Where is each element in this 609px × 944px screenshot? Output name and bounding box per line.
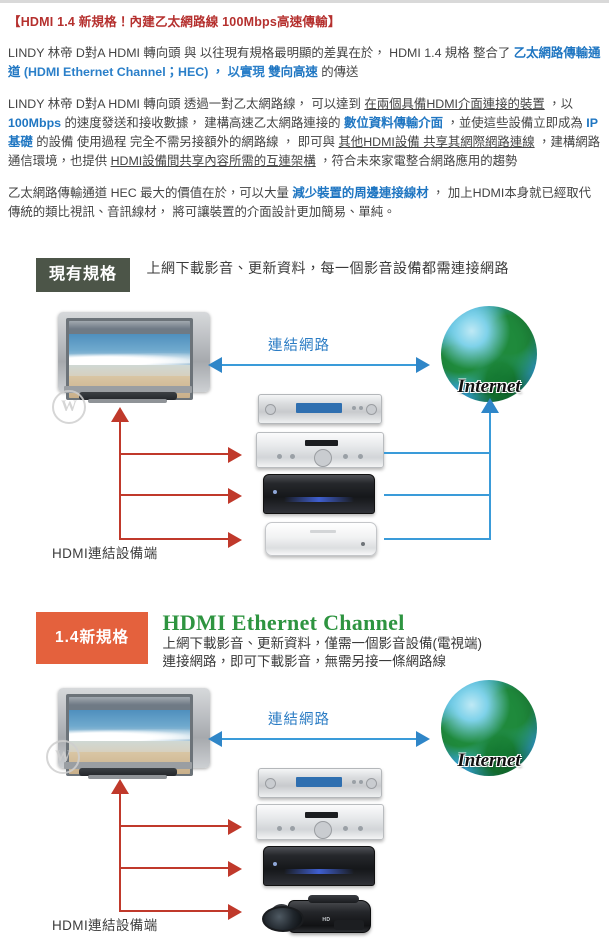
avr-btn-3-2 (343, 826, 348, 831)
hec-title: HDMI Ethernet Channel (162, 612, 482, 633)
p2-bold-100mbps: 100Mbps (8, 116, 61, 130)
dvd-tray (296, 403, 342, 413)
red-arrow-2-icon-2 (228, 861, 242, 877)
p2-link-share-content[interactable]: HDMI設備間共享內容所需的互連架構 (111, 154, 316, 168)
red-arrow-1-icon-2 (228, 819, 242, 835)
badge-new-spec: 1.4新規格 (36, 612, 148, 664)
watermark-icon-2: W (46, 740, 80, 774)
network-link-label: 連結網路 (268, 334, 330, 355)
globe-label-2: Internet (432, 750, 545, 772)
section-new-text: HDMI Ethernet Channel 上網下載影音、更新資料，僅需一個影音… (162, 612, 482, 671)
net-arrow-left-icon-2 (208, 731, 222, 747)
device-set-top-box-2 (263, 846, 375, 886)
avr-main-knob (314, 449, 332, 467)
dvd-knob-right (366, 404, 377, 415)
badge-current-spec: 現有規格 (36, 258, 130, 292)
avr-btn-2 (290, 454, 295, 459)
camcorder-top-handle (308, 895, 359, 903)
blue-arrow-to-internet-icon (481, 398, 499, 413)
page-root: 【HDMI 1.4 新規格！內建乙太網路線 100Mbps高速傳輸】 LINDY… (0, 0, 609, 944)
watermark-icon: W (52, 390, 86, 424)
dvd-btn-2-2 (359, 780, 363, 784)
device-camcorder: HD (262, 892, 378, 940)
avr-btn-1-2 (277, 826, 282, 831)
dvd-tray-2 (296, 777, 342, 787)
avr-btn-3 (343, 454, 348, 459)
hec-sub-line-1: 上網下載影音、更新資料，僅需一個影音設備(電視端) (162, 635, 482, 653)
net-arrow-right-icon (416, 357, 430, 373)
p2-bold-digital-interface: 數位資料傳輸介面 (344, 116, 443, 130)
red-branch-1 (119, 453, 229, 455)
device-av-receiver (256, 432, 384, 468)
internet-globe-2: Internet (441, 680, 537, 776)
avr-btn-4-2 (358, 826, 363, 831)
red-arrow-to-tv-icon-2 (111, 779, 129, 794)
screen-glare (69, 321, 191, 329)
article-body: 【HDMI 1.4 新規格！內建乙太網路線 100Mbps高速傳輸】 LINDY… (8, 14, 603, 235)
p2-text-4: ，並使這些設備立即成為 (443, 116, 586, 130)
p2-text-7: ，符合未來家電整合網路應用的趨勢 (316, 154, 518, 168)
red-arrow-2-icon (228, 488, 242, 504)
p2-text-3: 的速度發送和接收數據， 建構高速乙太網路連接的 (61, 116, 344, 130)
avr-btn-4 (358, 454, 363, 459)
p2-link-share-connection[interactable]: 其他HDMI設備 共享其網際網路連線 (338, 135, 534, 149)
section-new-header: 1.4新規格 HDMI Ethernet Channel 上網下載影音、更新資料… (36, 612, 482, 671)
dvd-btn-2 (359, 406, 363, 410)
avr-display (305, 440, 338, 445)
screen-glare-2 (69, 697, 191, 705)
avr-main-knob-2 (314, 821, 332, 839)
paragraph-3: 乙太網路傳輸通道 HEC 最大的價值在於，可以大量 減少裝置的周邊連接線材 ， … (8, 184, 603, 222)
device-media-box (265, 522, 377, 556)
paragraph-1: LINDY 林帝 D對A HDMI 轉向頭 與 以往現有規格最明顯的差異在於， … (8, 44, 603, 82)
net-line-horizontal (222, 364, 426, 366)
device-set-top-box (263, 474, 375, 514)
p2-text-5: 的設備 使用過程 完全不需另接額外的網路線 ， 即可與 (33, 135, 339, 149)
device-dvd-player-2 (258, 768, 382, 798)
red-branch-3 (119, 538, 229, 540)
net-line-horizontal-2 (222, 738, 426, 740)
hdmi-endpoint-label: HDMI連結設備端 (52, 542, 158, 562)
net-arrow-right-icon-2 (416, 731, 430, 747)
mediabox-line (310, 530, 336, 533)
dvd-btn-1 (352, 406, 356, 410)
paragraph-2: LINDY 林帝 D對A HDMI 轉向頭 透過一對乙太網路線， 可以達到 在兩… (8, 95, 603, 171)
internet-globe: Internet (441, 306, 537, 402)
p3-bold-reduce-cables: 減少裝置的周邊連接線材 (292, 186, 428, 200)
section-old-caption: 上網下載影音、更新資料，每一個影音設備都需連接網路 (146, 260, 509, 276)
stb-led-2 (273, 862, 277, 866)
dvd-btn-1-2 (352, 780, 356, 784)
red-branch-2 (119, 494, 229, 496)
p2-link-two-devices[interactable]: 在兩個具備HDMI介面連接的裝置 (364, 97, 544, 111)
net-arrow-left-icon (208, 357, 222, 373)
p2-text-1: LINDY 林帝 D對A HDMI 轉向頭 透過一對乙太網路線， 可以達到 (8, 97, 364, 111)
red-branch-2-2 (119, 867, 229, 869)
tv-display-2 (58, 688, 210, 793)
dvd-knob-left (265, 404, 276, 415)
red-arrow-3-icon-2 (228, 904, 242, 920)
dvd-knob-left-2 (265, 778, 276, 789)
avr-btn-1 (277, 454, 282, 459)
blue-branch-2 (384, 494, 491, 496)
page-title: 【HDMI 1.4 新規格！內建乙太網路線 100Mbps高速傳輸】 (8, 14, 603, 30)
p1-text-1: LINDY 林帝 D對A HDMI 轉向頭 與 以往現有規格最明顯的差異在於， … (8, 46, 514, 60)
device-dvd-player (258, 394, 382, 424)
top-divider (0, 0, 609, 3)
tv-base (88, 399, 167, 403)
avr-btn-2-2 (290, 826, 295, 831)
avr-display-2 (305, 812, 338, 817)
red-arrow-1-icon (228, 447, 242, 463)
network-link-label-2: 連結網路 (268, 708, 330, 729)
red-arrow-3-icon (228, 532, 242, 548)
device-av-receiver-2 (256, 804, 384, 840)
globe-label: Internet (432, 376, 545, 398)
stb-glow-bar (284, 497, 354, 502)
hec-sub-line-2: 連接網路，即可下載影音，無需另接一條網路線 (162, 653, 482, 671)
stb-led (273, 490, 277, 494)
red-branch-1-2 (119, 825, 229, 827)
red-branch-3-2 (119, 910, 229, 912)
camcorder-grip (334, 920, 364, 931)
stb-glow-bar-2 (284, 869, 354, 874)
hdmi-endpoint-label-2: HDMI連結設備端 (52, 914, 158, 934)
p1-bold-bidirectional: 雙向高速 (268, 65, 318, 79)
p1-text-3: 的傳送 (318, 65, 359, 79)
red-bus-vertical-2 (119, 794, 121, 912)
section-old-header: 現有規格 上網下載影音、更新資料，每一個影音設備都需連接網路 (36, 258, 509, 292)
p1-text-2: (HDMI Ethernet Channel；HEC) ， 以實現 (20, 65, 268, 79)
red-bus-vertical (119, 422, 121, 540)
red-arrow-to-tv-icon (111, 407, 129, 422)
blue-branch-1 (384, 452, 491, 454)
p3-text-1: 乙太網路傳輸通道 HEC 最大的價值在於，可以大量 (8, 186, 292, 200)
dvd-knob-right-2 (366, 778, 377, 789)
p2-text-2: ，以 (545, 97, 573, 111)
blue-branch-3 (384, 538, 491, 540)
mediabox-led (361, 542, 365, 546)
diagram-current-spec: W Internet 連結網路 (0, 302, 609, 582)
camcorder-hd-badge: HD (322, 917, 330, 923)
blue-bus-vertical (489, 412, 491, 540)
diagram-new-spec: W Internet 連結網路 (0, 680, 609, 944)
